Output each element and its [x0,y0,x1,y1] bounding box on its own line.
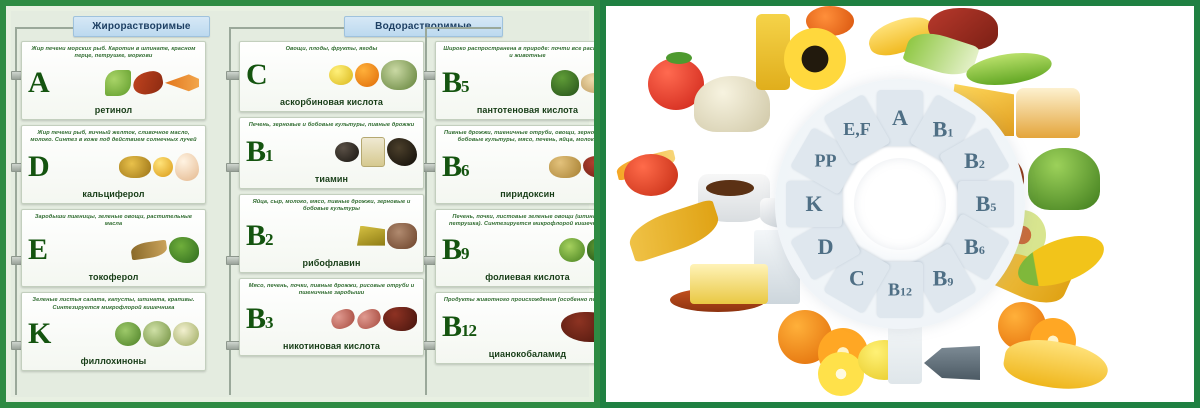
connector-nub [226,341,240,350]
card-sources: Жир печени рыб, яичный желток, сливочное… [22,126,205,146]
beef-icon [583,156,600,178]
segment-label: B5 [976,191,997,217]
segment-letter: B [933,265,948,290]
red-pepper-icon [131,69,165,97]
vitamin-card-b1[interactable]: Печень, зерновые и бобовые культуры, пив… [239,117,424,188]
yeast-jar-icon [361,137,385,167]
vitamin-wheel-poster: A B1 B2 B5 B6 B9 [600,0,1200,408]
vitamin-letter: B9 [442,235,471,265]
card-sources: Продукты животного происхождения (особен… [436,293,600,305]
orange-icon [355,63,379,87]
food-illustrations [51,62,199,104]
segment-label: B2 [964,148,985,174]
connector-nub [422,163,436,172]
butter-icon [690,264,768,304]
column-fat-soluble: Жир печени морских рыб. Каротин в шпинат… [21,41,206,376]
segment-letter: C [849,265,865,290]
card-body: B5 [436,62,600,104]
card-body: C [240,54,423,96]
letter-main: B [246,135,265,168]
column-water-soluble-left: Овощи, плоды, фрукты, ягоды C аскорбинов… [239,41,424,361]
segment-letter: E,F [843,119,871,139]
food-illustrations [478,306,600,348]
liver-icon [561,312,600,342]
vitamin-name: кальциферол [22,188,205,203]
card-sources: Печень, почки, листовые зеленые овощи (ш… [436,210,600,230]
card-body: A [22,62,205,104]
liver-icon [383,307,417,331]
connector-nub [422,71,436,80]
segment-label: K [805,191,822,217]
food-illustrations [471,62,600,104]
card-sources: Зародыши пшеницы, зеленые овощи, растите… [22,210,205,230]
buckwheat-icon [387,223,417,249]
food-illustrations [471,146,600,188]
segment-label: C [849,265,865,291]
segment-sub: 5 [990,200,996,214]
cabbage-icon [381,60,417,90]
wheel-center-hole [854,158,946,250]
food-illustrations [275,131,417,173]
segment-label: B1 [933,117,954,143]
vitamin-name: тиамин [240,173,423,188]
nettle-icon [115,322,141,346]
vitamin-letter: B3 [246,304,275,334]
segment-label: A [892,105,908,131]
tab-fat-soluble-label: Жирорастворимые [92,21,190,32]
card-body: B9 [436,229,600,271]
food-illustrations [471,229,600,271]
vitamin-name: пантотеновая кислота [436,104,600,119]
vitamin-card-b6[interactable]: Пивные дрожжи, пшеничные отруби, овощи, … [435,125,600,204]
vitamin-name: филлохиноны [22,355,205,370]
vitamin-name: никотиновая кислота [240,340,423,355]
vitamin-card-b9[interactable]: Печень, почки, листовые зеленые овощи (ш… [435,209,600,288]
vitamin-table-poster: Жирорастворимые Водорастворимые [0,0,600,408]
vitamin-card-d[interactable]: Жир печени рыб, яичный желток, сливочное… [21,125,206,204]
nuts-icon [581,73,600,93]
meat-icon [355,307,384,332]
spinach-icon [587,238,600,262]
letter-main: B [442,150,461,183]
vitamin-card-a[interactable]: Жир печени морских рыб. Каротин в шпинат… [21,41,206,120]
vitamin-card-e[interactable]: Зародыши пшеницы, зеленые овощи, растите… [21,209,206,288]
food-illustrations [269,54,417,96]
vitamin-name: цианокобаламид [436,348,600,363]
letter-sub: 5 [461,77,469,96]
lemon-icon [329,65,353,85]
vitamin-card-k[interactable]: Зеленые листья салата, капусты, шпината,… [21,292,206,371]
cheese-icon [357,226,385,246]
letter-sub: 2 [265,230,273,249]
grain-icon [387,138,417,166]
card-sources: Широко распространена в природе: почти в… [436,42,600,62]
card-body: B1 [240,131,423,173]
vitamin-wheel: A B1 B2 B5 B6 B9 [775,79,1025,329]
card-body: B3 [240,298,423,340]
segment-sub: 1 [947,126,953,140]
parsley-icon [559,238,585,262]
bread-icon [1016,88,1080,138]
vitamin-letter: D [28,152,51,182]
card-body: E [22,229,205,271]
vitamin-letter: B6 [442,152,471,182]
segment-letter: B [964,148,979,173]
broccoli-icon [551,70,579,96]
vitamin-letter: B1 [246,137,275,167]
lettuce-icon [105,70,131,96]
vitamin-name: фолиевая кислота [436,271,600,286]
card-body: B6 [436,146,600,188]
segment-letter: B [933,117,948,142]
beans-icon [335,142,359,162]
segment-letter: A [892,105,908,130]
segment-label: B12 [888,280,912,301]
vitamin-letter: K [28,319,52,349]
card-body: B12 [436,306,600,348]
card-body: D [22,146,205,188]
food-illustrations [52,313,199,355]
letter-sub: 9 [461,244,469,263]
letter-sub: 3 [265,313,273,332]
segment-letter: B [964,234,979,259]
egg-yolk-icon [153,157,173,177]
rail-left-vertical [15,27,17,395]
vitamin-letter: A [28,68,51,98]
tab-fat-soluble[interactable]: Жирорастворимые [73,16,210,37]
vitamin-card-c[interactable]: Овощи, плоды, фрукты, ягоды C аскорбинов… [239,41,424,112]
segment-letter: PP [815,151,837,171]
segment-label: B6 [964,234,985,260]
segment-sub: 2 [979,157,985,171]
letter-main: B [442,233,461,266]
card-sources: Пивные дрожжи, пшеничные отруби, овощи, … [436,126,600,146]
connector-nub [422,256,436,265]
banana-icon [1001,333,1111,396]
cabbage-icon [143,321,171,347]
vitamin-infographic: Жирорастворимые Водорастворимые [0,0,1200,408]
wheat-germ-icon [130,240,168,261]
letter-main: B [246,302,265,335]
card-sources: Мясо, печень, почки, пивные дрожжи, рисо… [240,279,423,299]
letter-main: B [442,66,461,99]
letter-main: B [442,310,461,343]
rail-right-top [425,27,501,29]
segment-letter: K [805,191,822,216]
card-sources: Печень, зерновые и бобовые культуры, пив… [240,118,423,130]
connector-nub [226,71,240,80]
vitamin-letter: C [246,60,269,90]
connector-nub [226,163,240,172]
segment-label: PP [815,151,837,172]
column-water-soluble-right: Широко распространена в природе: почти в… [435,41,600,369]
fish-roe-icon [119,156,151,178]
poster-background: Жирорастворимые Водорастворимые [11,11,589,397]
vitamin-card-b2[interactable]: Яйца, сыр, молоко, мясо, пивные дрожжи, … [239,194,424,273]
card-sources: Яйца, сыр, молоко, мясо, пивные дрожжи, … [240,195,423,215]
vitamin-letter: B2 [246,221,275,251]
letter-sub: 1 [265,146,273,165]
segment-label: E,F [843,119,871,140]
card-body: B2 [240,215,423,257]
letter-sub: 12 [461,321,476,340]
vitamin-name: пиридоксин [436,188,600,203]
potato-icon [549,156,581,178]
connector-nub [422,341,436,350]
vitamin-letter: B12 [442,312,478,342]
spinach-icon [169,237,199,263]
vitamin-name: токоферол [22,271,205,286]
rail-mid-vertical [229,27,231,395]
cauliflower-icon [173,322,199,346]
fish-icon [924,346,980,380]
rail-mid-top [229,27,344,29]
carrot-icon [165,73,199,93]
segment-letter: B [888,280,900,300]
wheat-icon [624,199,723,264]
vitamin-letter: B5 [442,68,471,98]
card-sources: Зеленые листья салата, капусты, шпината,… [22,293,205,313]
card-sources: Жир печени морских рыб. Каротин в шпинат… [22,42,205,62]
segment-sub: 6 [979,243,985,257]
egg-icon [175,153,199,181]
vitamin-name: аскорбиновая кислота [240,96,423,111]
segment-sub: 12 [900,285,912,299]
rail-left-top [15,27,73,29]
vitamin-name: ретинол [22,104,205,119]
food-illustrations [275,215,417,257]
card-sources: Овощи, плоды, фрукты, ягоды [240,42,423,54]
letter-main: B [246,219,265,252]
vitamin-letter: E [28,235,49,265]
vitamin-card-b3[interactable]: Мясо, печень, почки, пивные дрожжи, рисо… [239,278,424,357]
food-illustrations [49,229,199,271]
food-illustrations [51,146,199,188]
segment-letter: B [976,191,991,216]
letter-sub: 6 [461,161,469,180]
meat-icon [329,307,358,332]
segment-sub: 9 [947,274,953,288]
broccoli-icon [1028,148,1100,210]
vitamin-name: рибофлавин [240,257,423,272]
food-illustrations [275,298,417,340]
connector-nub [226,256,240,265]
vitamin-card-b12[interactable]: Продукты животного происхождения (особен… [435,292,600,363]
vitamin-card-b5[interactable]: Широко распространена в природе: почти в… [435,41,600,120]
card-body: K [22,313,205,355]
rosehip-icon [624,154,678,196]
segment-label: D [818,234,834,260]
rail-right-vertical [425,27,427,395]
segment-letter: D [818,234,834,259]
segment-label: B9 [933,265,954,291]
